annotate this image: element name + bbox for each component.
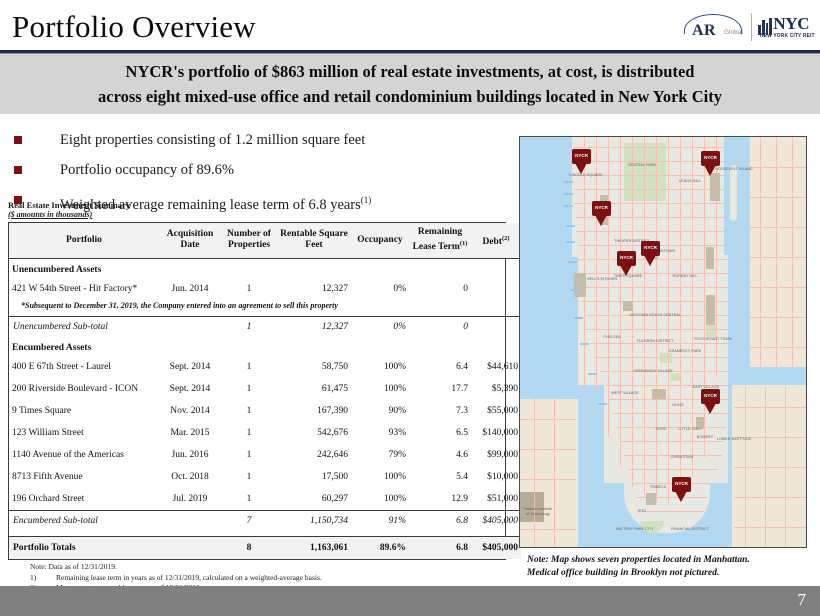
map-street <box>750 227 807 228</box>
map-pier <box>574 317 583 319</box>
map-street <box>594 357 728 358</box>
map-park-small-2 <box>670 373 680 381</box>
cell-number-of-properties: 1 <box>221 356 277 378</box>
map-pier <box>568 261 577 263</box>
map-avenue <box>554 399 555 548</box>
cell-number-of-properties: 1 <box>221 444 277 466</box>
cell-subtotal-date <box>159 317 221 338</box>
cell-acquisition-date: Jun. 2014 <box>159 278 221 300</box>
cell-acquisition-date: Oct. 2018 <box>159 466 221 488</box>
map-label: LOWER EAST SIDE <box>715 437 753 441</box>
cell-rentable-square-feet: 167,390 <box>277 400 351 422</box>
map-pin-200-riverside-boulevard-icon[interactable]: NYCR <box>572 149 591 174</box>
cell-remaining-lease-term: 12.9 <box>409 488 471 511</box>
cell-totals-sf: 1,163,061 <box>277 536 351 559</box>
table-caption: Real Estate Investment Summary <box>8 200 130 210</box>
table-row: 123 William Street Mar. 2015 1 542,676 9… <box>9 422 521 444</box>
map-street <box>520 419 576 420</box>
cell-debt <box>471 278 521 300</box>
map-avenue <box>776 137 777 367</box>
slide-portfolio-overview: Portfolio Overview AR Global NYC NEW YOR… <box>0 0 820 616</box>
table-row: 8713 Fifth Avenue Oct. 2018 1 17,500 100… <box>9 466 521 488</box>
group-label-encumbered: Encumbered Assets <box>9 337 521 356</box>
cell-property-name: 200 Riverside Boulevard - ICON <box>9 378 159 400</box>
cell-totals-rlt: 6.8 <box>409 536 471 559</box>
cell-property-name: 400 E 67th Street - Laurel <box>9 356 159 378</box>
cell-rentable-square-feet: 17,500 <box>277 466 351 488</box>
bullet-text-1: Eight properties consisting of 1.2 milli… <box>60 128 365 152</box>
real-estate-investment-table: Portfolio Acquisition Date Number of Pro… <box>8 222 506 560</box>
map-street <box>580 273 728 274</box>
map-park-small-3 <box>706 323 716 337</box>
table-row: 9 Times Square Nov. 2014 1 167,390 90% 7… <box>9 400 521 422</box>
map-label: TRIBECA <box>640 485 676 489</box>
map-street <box>734 527 807 528</box>
cell-subtotal-sf: 12,327 <box>277 317 351 338</box>
bullet-text-2: Portfolio occupancy of 89.6% <box>60 158 234 182</box>
pin-tip-icon <box>620 265 632 276</box>
cell-property-name: 196 Orchard Street <box>9 488 159 511</box>
col-header-rentable-square-feet: Rentable Square Feet <box>277 223 351 259</box>
nyc-reit-logo: NYC NEW YORK CITY REIT <box>758 11 814 43</box>
pin-label: NYCR <box>641 245 660 250</box>
cell-remaining-lease-term: 17.7 <box>409 378 471 400</box>
manhattan-property-map: LINCOLN SQUARE CENTRAL PARK LENOX HILL R… <box>519 136 807 548</box>
cell-occupancy: 93% <box>351 422 409 444</box>
table-row-portfolio-totals: Portfolio Totals 8 1,163,061 89.6% 6.8 $… <box>9 536 521 559</box>
pin-tip-icon <box>644 255 656 266</box>
cell-occupancy: 100% <box>351 466 409 488</box>
table-subcaption: ($ amounts in thousands) <box>8 210 92 219</box>
headline-line-2: across eight mixed-use office and retail… <box>98 84 722 109</box>
ar-global-logo: AR Global <box>682 10 745 44</box>
footnote-marker-1: 1) <box>30 573 56 584</box>
pin-tip-icon <box>575 163 587 174</box>
cell-property-name: 1140 Avenue of the Americas <box>9 444 159 466</box>
map-avenue <box>534 399 535 548</box>
cell-remaining-lease-term: 6.4 <box>409 356 471 378</box>
cell-subtotal-label: Unencumbered Sub-total <box>9 317 159 338</box>
map-label: FINANCIAL DISTRICT <box>670 527 710 531</box>
map-label: MIDTOWN SOUTH CENTRAL <box>630 313 678 317</box>
cell-number-of-properties: 1 <box>221 466 277 488</box>
ar-logo-text: AR <box>692 22 716 40</box>
table-header-row: Portfolio Acquisition Date Number of Pro… <box>9 223 521 259</box>
map-label: Fashion Institute of Technology <box>522 507 554 516</box>
map-note-line-2: Medical office building in Brooklyn not … <box>527 567 817 580</box>
map-pier <box>570 289 579 291</box>
map-pin-123-william-street[interactable]: NYCR <box>672 477 691 502</box>
pin-label: NYCR <box>672 481 691 486</box>
map-label: CENTRAL PARK <box>622 163 662 167</box>
cell-subtotal-occupancy: 91% <box>351 511 409 532</box>
cell-debt: $55,000 <box>471 400 521 422</box>
map-avenue <box>760 137 761 367</box>
map-street <box>580 287 728 288</box>
cell-occupancy: 100% <box>351 378 409 400</box>
map-street <box>750 317 807 318</box>
map-street <box>520 479 576 480</box>
cell-occupancy: 79% <box>351 444 409 466</box>
cell-number-of-properties: 1 <box>221 488 277 511</box>
map-avenue <box>680 137 681 501</box>
cell-remaining-lease-term: 5.4 <box>409 466 471 488</box>
page-title: Portfolio Overview <box>12 8 256 46</box>
cell-subtotal-number: 1 <box>221 317 277 338</box>
map-label: CHELSEA <box>592 335 632 339</box>
map-pin-1140-avenue-of-the-americas[interactable]: NYCR <box>641 241 660 266</box>
pin-tip-icon <box>704 165 716 176</box>
pin-label: NYCR <box>701 393 720 398</box>
map-avenue <box>792 137 793 367</box>
pin-label: NYCR <box>617 255 636 260</box>
map-land-queens <box>750 137 807 367</box>
bullet-square-icon <box>14 166 22 174</box>
map-central-park <box>624 143 666 201</box>
cell-occupancy: 0% <box>351 278 409 300</box>
cell-remaining-lease-term: 6.5 <box>409 422 471 444</box>
col-header-acquisition-date: Acquisition Date <box>159 223 221 259</box>
map-label: GREENWICH VILLAGE <box>630 369 676 373</box>
cell-rentable-square-feet: 60,297 <box>277 488 351 511</box>
cell-subtotal-number: 7 <box>221 511 277 532</box>
map-pier <box>564 181 573 183</box>
table-row: 400 E 67th Street - Laurel Sept. 2014 1 … <box>9 356 521 378</box>
bullet-item-1: Eight properties consisting of 1.2 milli… <box>14 128 514 158</box>
page-number: 7 <box>798 590 807 610</box>
headline-banner: NYCR's portfolio of $863 million of real… <box>0 54 820 114</box>
cell-occupancy: 100% <box>351 488 409 511</box>
map-street <box>750 257 807 258</box>
group-label-unencumbered: Unencumbered Assets <box>9 259 521 279</box>
unencumbered-asterisk-note: *Subsequent to December 31, 2019, the Co… <box>9 300 521 317</box>
cell-subtotal-date <box>159 511 221 532</box>
cell-property-name: 9 Times Square <box>9 400 159 422</box>
cell-totals-number: 8 <box>221 536 277 559</box>
cell-remaining-lease-term: 7.3 <box>409 400 471 422</box>
map-label: WTC <box>630 509 654 513</box>
cell-acquisition-date: Sept. 2014 <box>159 378 221 400</box>
map-label: MURRAY HILL <box>665 274 705 278</box>
cell-acquisition-date: Jul. 2019 <box>159 488 221 511</box>
cell-subtotal-label: Encumbered Sub-total <box>9 511 159 532</box>
logo-divider <box>751 13 752 41</box>
cell-totals-date <box>159 536 221 559</box>
pin-label: NYCR <box>701 155 720 160</box>
table-row: 196 Orchard Street Jul. 2019 1 60,297 10… <box>9 488 521 511</box>
map-street <box>734 467 807 468</box>
map-note-line-1: Note: Map shows seven properties located… <box>527 554 817 567</box>
map-street <box>734 497 807 498</box>
map-street <box>586 329 728 330</box>
map-street <box>750 197 807 198</box>
map-avenue <box>644 137 645 497</box>
map-street <box>750 287 807 288</box>
map-street <box>750 347 807 348</box>
nyc-logo-subtext: NEW YORK CITY REIT <box>758 33 816 39</box>
table-group-header-encumbered: Encumbered Assets <box>9 337 521 356</box>
cell-number-of-properties: 1 <box>221 400 277 422</box>
col-header-portfolio: Portfolio <box>9 223 159 259</box>
map-street <box>628 469 718 470</box>
cell-property-name: 123 William Street <box>9 422 159 444</box>
footnote-note: Note: Data as of 12/31/2019. <box>30 562 322 573</box>
map-label: CHINATOWN <box>662 455 702 459</box>
map-pier <box>566 241 575 243</box>
logo-group: AR Global NYC NEW YORK CITY REIT <box>682 8 814 46</box>
map-street <box>734 407 807 408</box>
headline-line-1: NYCR's portfolio of $863 million of real… <box>126 59 695 84</box>
pin-tip-icon <box>595 215 607 226</box>
cell-subtotal-rlt: 6.8 <box>409 511 471 532</box>
footnote-text-1: Remaining lease term in years as of 12/3… <box>56 573 322 584</box>
map-land-newjersey <box>520 399 578 548</box>
map-building-block <box>710 173 720 201</box>
map-street <box>520 449 576 450</box>
cell-debt: $51,000 <box>471 488 521 511</box>
map-note: Note: Map shows seven properties located… <box>527 554 817 580</box>
cell-rentable-square-feet: 12,327 <box>277 278 351 300</box>
cell-subtotal-debt <box>471 317 521 338</box>
map-pin-400-e-67th-street-laurel[interactable]: NYCR <box>701 151 720 176</box>
ar-logo-subtext: Global <box>724 29 743 36</box>
map-label: SOHO <box>646 427 676 431</box>
map-label: STUYVESANT TOWN <box>692 337 734 341</box>
bullet-square-icon <box>14 136 22 144</box>
map-avenue <box>668 137 669 505</box>
map-pin-421-w-54th-street-hit-factory[interactable]: NYCR <box>592 201 611 226</box>
map-label: LENOX HILL <box>670 179 710 183</box>
cell-rentable-square-feet: 542,676 <box>277 422 351 444</box>
map-roosevelt-island <box>730 165 737 221</box>
pin-label: NYCR <box>592 205 611 210</box>
table-row: 1140 Avenue of the Americas Jun. 2016 1 … <box>9 444 521 466</box>
map-label: FLATIRON DISTRICT <box>633 339 677 343</box>
cell-subtotal-debt: $405,000 <box>471 511 521 532</box>
cell-acquisition-date: Nov. 2014 <box>159 400 221 422</box>
footnote-item-1: 1) Remaining lease term in years as of 1… <box>30 573 322 584</box>
cell-rentable-square-feet: 58,750 <box>277 356 351 378</box>
map-label: LITTLE ITALY <box>673 427 707 431</box>
cell-debt: $10,000 <box>471 466 521 488</box>
map-street <box>574 189 724 190</box>
map-label: GRAMERCY PARK <box>665 349 705 353</box>
cell-acquisition-date: Sept. 2014 <box>159 356 221 378</box>
nyc-logo-text: NYC <box>773 14 809 34</box>
map-pier <box>598 403 607 405</box>
map-label: NOHO <box>662 403 694 407</box>
cell-debt: $44,610 <box>471 356 521 378</box>
map-building-block <box>623 301 633 311</box>
map-pin-196-orchard-street[interactable]: NYCR <box>701 389 720 414</box>
cell-property-name: 421 W 54th Street - Hit Factory* <box>9 278 159 300</box>
map-street <box>574 147 724 148</box>
cell-rentable-square-feet: 242,646 <box>277 444 351 466</box>
table-row-subtotal-unencumbered: Unencumbered Sub-total 1 12,327 0% 0 <box>9 317 521 338</box>
bullet-item-2: Portfolio occupancy of 89.6% <box>14 158 514 188</box>
cell-number-of-properties: 1 <box>221 278 277 300</box>
map-avenue <box>656 137 657 503</box>
map-building-block <box>706 295 715 325</box>
cell-number-of-properties: 1 <box>221 422 277 444</box>
col-header-occupancy: Occupancy <box>351 223 409 259</box>
cell-subtotal-sf: 1,150,734 <box>277 511 351 532</box>
table-row-footnote: *Subsequent to December 31, 2019, the Co… <box>9 300 521 317</box>
map-street <box>750 167 807 168</box>
map-pier <box>580 343 589 345</box>
map-building-block <box>652 389 666 399</box>
cell-occupancy: 90% <box>351 400 409 422</box>
map-park-small-1 <box>660 353 672 363</box>
map-pier <box>564 205 573 207</box>
cell-occupancy: 100% <box>351 356 409 378</box>
map-pier <box>566 225 575 227</box>
map-street <box>520 529 576 530</box>
map-pier <box>588 373 597 375</box>
map-label: HELL'S KITCHEN <box>582 277 622 281</box>
cell-property-name: 8713 Fifth Avenue <box>9 466 159 488</box>
cell-remaining-lease-term: 0 <box>409 278 471 300</box>
table-group-header-unencumbered: Unencumbered Assets <box>9 259 521 279</box>
map-pier <box>564 193 573 195</box>
map-building-block <box>706 247 714 269</box>
map-label: WEST VILLAGE <box>606 391 644 395</box>
table-row-subtotal-encumbered: Encumbered Sub-total 7 1,150,734 91% 6.8… <box>9 511 521 532</box>
cell-totals-debt: $405,000 <box>471 536 521 559</box>
pin-tip-icon <box>704 403 716 414</box>
map-avenue <box>692 137 693 477</box>
cell-debt: $5,390 <box>471 378 521 400</box>
cell-acquisition-date: Jun. 2016 <box>159 444 221 466</box>
map-street <box>620 441 724 442</box>
map-building-block <box>646 493 656 505</box>
cell-debt: $99,000 <box>471 444 521 466</box>
col-header-number-of-properties: Number of Properties <box>221 223 277 259</box>
cell-debt: $140,000 <box>471 422 521 444</box>
pin-tip-icon <box>675 491 687 502</box>
cell-subtotal-rlt: 0 <box>409 317 471 338</box>
bullet-footnote-ref: (1) <box>361 195 372 205</box>
cell-acquisition-date: Mar. 2015 <box>159 422 221 444</box>
cell-subtotal-occupancy: 0% <box>351 317 409 338</box>
cell-totals-occupancy: 89.6% <box>351 536 409 559</box>
cell-rentable-square-feet: 61,475 <box>277 378 351 400</box>
cell-totals-label: Portfolio Totals <box>9 536 159 559</box>
table-row: 421 W 54th Street - Hit Factory* Jun. 20… <box>9 278 521 300</box>
pin-label: NYCR <box>572 153 591 158</box>
map-street <box>590 343 728 344</box>
map-street <box>576 231 726 232</box>
col-header-remaining-lease-term: Remaining Lease Term(1) <box>409 223 471 259</box>
map-avenue <box>620 137 621 467</box>
table-row: 200 Riverside Boulevard - ICON Sept. 201… <box>9 378 521 400</box>
footer-bar: 7 <box>0 586 820 616</box>
cell-remaining-lease-term: 4.6 <box>409 444 471 466</box>
cell-number-of-properties: 1 <box>221 378 277 400</box>
map-pin-9-times-square[interactable]: NYCR <box>617 251 636 276</box>
col-header-debt: Debt(2) <box>471 223 521 259</box>
map-label: BATTERY PARK CITY <box>616 527 654 531</box>
